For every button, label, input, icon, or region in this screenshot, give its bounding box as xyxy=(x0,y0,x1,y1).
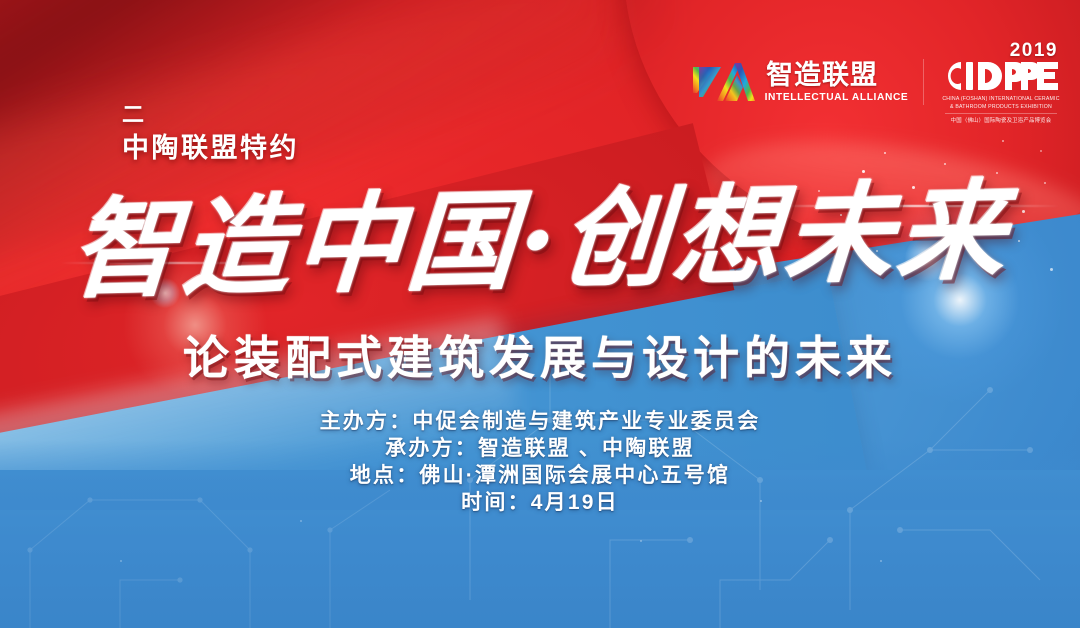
kicker-block: 二 中陶联盟特约 xyxy=(122,104,299,162)
event-info-block: 主办方：中促会制造与建筑产业专业委员会 承办方：智造联盟 、中陶联盟 地点：佛山… xyxy=(0,408,1080,516)
logo-cidpe[interactable]: 2019 CHINA (FOSHAN) I xyxy=(940,40,1062,124)
subtitle: 论装配式建筑发展与设计的未来 xyxy=(183,322,897,388)
event-poster: 智造联盟 INTELLECTUAL ALLIANCE 2019 xyxy=(0,0,1080,628)
cidpe-chinese-name: 中国（佛山）国际陶瓷及卫浴产品博览会 xyxy=(945,113,1057,124)
rainbow-chevron-icon xyxy=(691,57,757,107)
cidpe-wordmark-icon xyxy=(941,59,1061,93)
cidpe-english-name: CHINA (FOSHAN) INTERNATIONAL CERAMIC & B… xyxy=(940,96,1062,111)
info-line-venue: 地点：佛山·潭洲国际会展中心五号馆 xyxy=(0,462,1080,489)
alliance-logo-cn: 智造联盟 xyxy=(766,62,907,89)
alliance-logo-en: INTELLECTUAL ALLIANCE xyxy=(765,93,909,103)
info-line-organizer: 主办方：中促会制造与建筑产业专业委员会 xyxy=(0,408,1080,435)
kicker-text: 中陶联盟特约 xyxy=(122,135,299,162)
subtitle-block: 论装配式建筑发展与设计的未来 xyxy=(0,322,1080,388)
logo-intellectual-alliance[interactable]: 智造联盟 INTELLECTUAL ALLIANCE xyxy=(691,57,907,107)
kicker-mark: 二 xyxy=(122,104,299,126)
logo-divider xyxy=(923,59,924,105)
info-line-date: 时间：4月19日 xyxy=(0,489,1080,516)
logo-bar: 智造联盟 INTELLECTUAL ALLIANCE 2019 xyxy=(691,40,1062,124)
info-line-coorganizer: 承办方：智造联盟 、中陶联盟 xyxy=(0,435,1080,462)
